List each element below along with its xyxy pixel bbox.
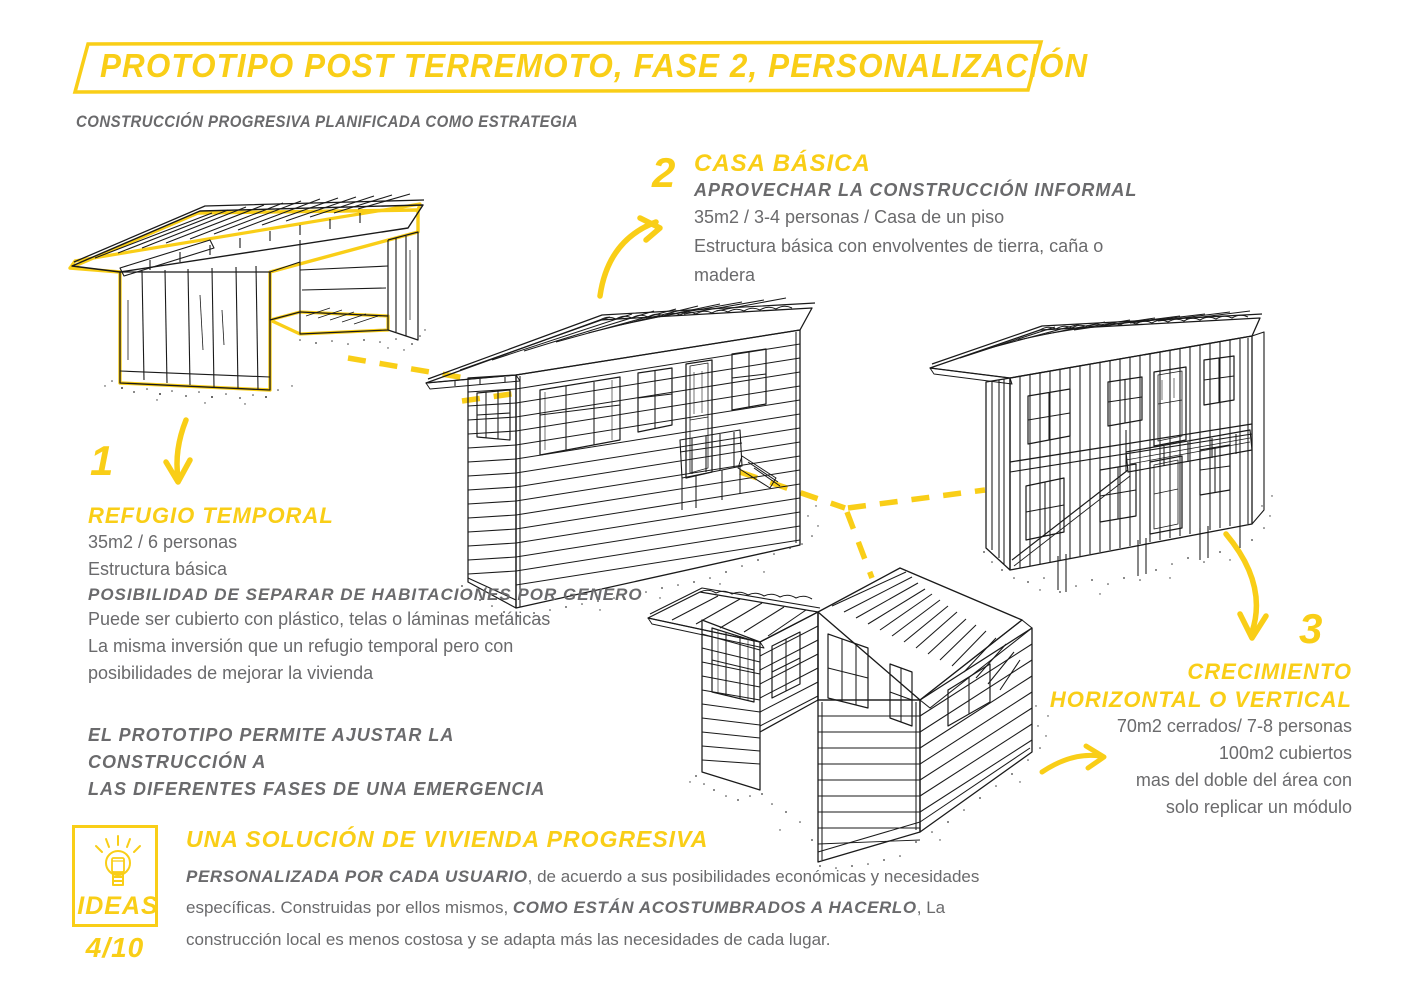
step-2-line-2: Estructura básica con envolventes de tie… [694, 233, 1124, 259]
temporary-shelter-sketch [70, 194, 426, 405]
step-1-line-5: La misma inversión que un refugio tempor… [88, 633, 608, 660]
page-title: PROTOTIPO POST TERREMOTO, FASE 2, PERSON… [100, 47, 1088, 85]
step-1-heading: REFUGIO TEMPORAL [88, 503, 608, 529]
prototype-tagline-line-1: EL PROTOTIPO PERMITE AJUSTAR LA CONSTRUC… [88, 722, 608, 776]
step-number-3: 3 [1299, 608, 1322, 650]
connector-dash-2-to-branch [740, 472, 845, 508]
step-3-heading-line-2: HORIZONTAL O VERTICAL [1000, 686, 1352, 714]
arrow-to-step-2 [600, 218, 660, 296]
title-banner: PROTOTIPO POST TERREMOTO, FASE 2, PERSON… [74, 41, 1042, 93]
footer-heading: UNA SOLUCIÓN DE VIVIENDA PROGRESIVA [186, 826, 1026, 853]
step-2-heading: CASA BÁSICA [694, 150, 1124, 178]
poster-canvas: PROTOTIPO POST TERREMOTO, FASE 2, PERSON… [0, 0, 1414, 1000]
connector-dash-branch-to-3 [848, 490, 985, 508]
connector-dash-2-entry [462, 392, 525, 401]
footer-run-3: COMO ESTÁN ACOSTUMBRADOS A HACERLO [513, 898, 917, 917]
step-2-line-3: madera [694, 262, 1124, 288]
step-3-line-2: 100m2 cubiertos [1000, 740, 1352, 767]
lightbulb-icon [75, 832, 161, 894]
footer-run-1: PERSONALIZADA POR CADA USUARIO [186, 867, 528, 886]
connector-dash-branch-to-4 [847, 512, 872, 578]
ideas-badge: IDEAS [72, 825, 158, 927]
connector-dash-1-to-2 [348, 358, 465, 378]
ideas-label: IDEAS [75, 892, 161, 921]
step-2-subheading: APROVECHAR LA CONSTRUCCIÓN INFORMAL [694, 180, 1124, 201]
step-2-text-block: CASA BÁSICA APROVECHAR LA CONSTRUCCIÓN I… [694, 150, 1124, 288]
page-subtitle: CONSTRUCCIÓN PROGRESIVA PLANIFICADA COMO… [76, 112, 578, 132]
arrow-to-step-1 [166, 420, 190, 482]
step-2-line-1: 35m2 / 3-4 personas / Casa de un piso [694, 204, 1124, 230]
prototype-tagline: EL PROTOTIPO PERMITE AJUSTAR LA CONSTRUC… [88, 722, 608, 803]
step-1-line-2: Estructura básica [88, 556, 608, 583]
step-1-text-block: REFUGIO TEMPORAL 35m2 / 6 personas Estru… [88, 503, 608, 803]
step-1-emphasis-line: POSIBILIDAD DE SEPARAR DE HABITACIONES P… [88, 585, 608, 605]
step-3-line-1: 70m2 cerrados/ 7-8 personas [1000, 713, 1352, 740]
step-1-line-6: posibilidades de mejorar la vivienda [88, 660, 608, 687]
step-3-line-3: mas del doble del área con [1000, 767, 1352, 794]
vertical-growth-house-sketch [930, 311, 1273, 595]
step-3-line-4: solo replicar un módulo [1000, 794, 1352, 821]
step-number-2: 2 [652, 152, 675, 194]
arrow-to-step-3 [1226, 534, 1266, 638]
prototype-tagline-line-2: LAS DIFERENTES FASES DE UNA EMERGENCIA [88, 776, 608, 803]
step-3-text-block: CRECIMIENTO HORIZONTAL O VERTICAL 70m2 c… [1000, 658, 1352, 821]
step-number-1: 1 [90, 440, 113, 482]
footer-text-block: UNA SOLUCIÓN DE VIVIENDA PROGRESIVA PERS… [186, 826, 1026, 955]
page-counter: 4/10 [72, 932, 158, 964]
step-1-line-1: 35m2 / 6 personas [88, 529, 608, 556]
footer-paragraph: PERSONALIZADA POR CADA USUARIO, de acuer… [186, 861, 1026, 955]
step-1-line-4: Puede ser cubierto con plástico, telas o… [88, 606, 608, 633]
step-3-heading-line-1: CRECIMIENTO [1000, 658, 1352, 686]
